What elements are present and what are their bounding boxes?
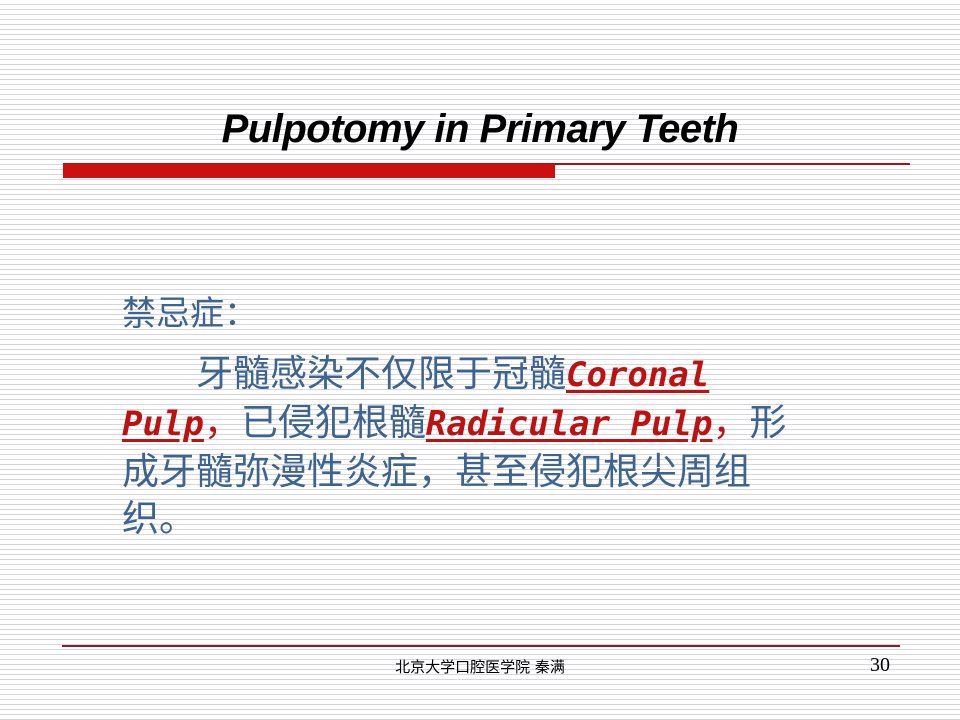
body-line-2-chinese-tail: 形: [749, 401, 786, 444]
footer-divider: [62, 645, 900, 647]
term-coronal-pulp-part1: Coronal: [566, 355, 709, 395]
body-line-2-chinese-mid: 已侵犯根髓: [241, 401, 426, 444]
term-coronal-pulp-part2: Pulp: [122, 404, 204, 444]
body-content: 禁忌症： 牙髓感染不仅限于冠髓Coronal Pulp，已侵犯根髓Radicul…: [122, 292, 882, 542]
page-title: Pulpotomy in Primary Teeth: [0, 104, 960, 154]
body-line-4: 织。: [122, 495, 882, 542]
footer-credit: 北京大学口腔医学院 秦满: [0, 656, 960, 678]
comma-after-coronal-pulp: ，: [204, 401, 241, 444]
body-line-1: 牙髓感染不仅限于冠髓Coronal: [122, 350, 882, 399]
title-accent-bar: [63, 164, 555, 178]
body-line-1-chinese: 牙髓感染不仅限于冠髓: [196, 352, 566, 395]
body-line-3: 成牙髓弥漫性炎症，甚至侵犯根尖周组: [122, 448, 882, 495]
body-line-2: Pulp，已侵犯根髓Radicular Pulp，形: [122, 399, 882, 448]
contraindication-heading: 禁忌症：: [122, 292, 882, 336]
term-radicular-pulp: Radicular Pulp: [426, 404, 713, 444]
comma-after-radicular-pulp: ，: [712, 401, 749, 444]
slide-canvas: Pulpotomy in Primary Teeth 禁忌症： 牙髓感染不仅限于…: [0, 0, 960, 720]
slide-page-number: 30: [870, 653, 890, 677]
